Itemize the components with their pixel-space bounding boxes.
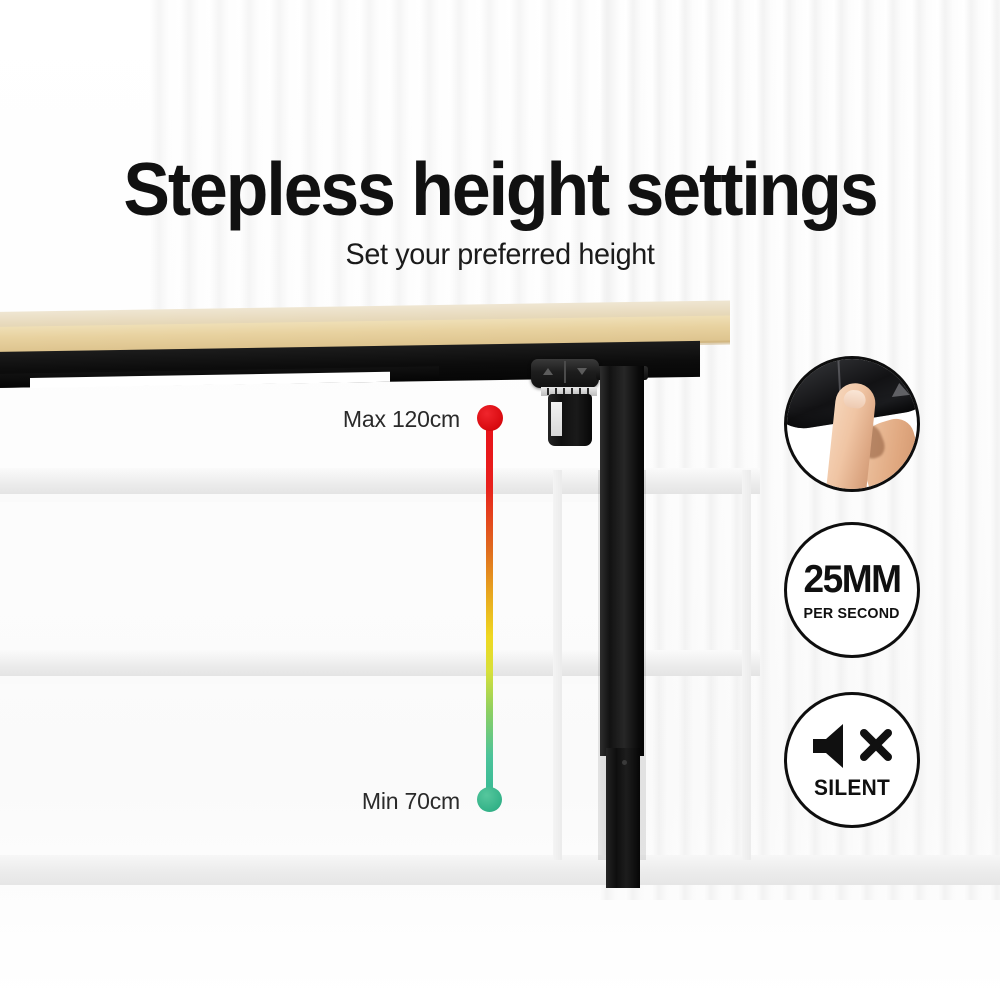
background-shelf-upper-lip <box>0 494 610 502</box>
leg-column-upper <box>600 366 644 756</box>
max-height-label: Max 120cm <box>200 406 460 433</box>
background-shelf-upright-right <box>742 470 751 860</box>
fingernail <box>843 389 867 409</box>
max-height-marker-dot <box>477 405 503 431</box>
leg-screw <box>622 760 627 765</box>
arrow-up-icon <box>543 368 553 375</box>
background-floor-band <box>0 855 1000 885</box>
paddle-divider <box>564 361 566 383</box>
muted-speaker-icon <box>809 721 895 771</box>
motor-spec-label <box>551 402 562 436</box>
arrow-down-icon <box>577 368 587 375</box>
background-shelf-middle-lip <box>0 676 610 684</box>
page-title: Stepless height settings <box>35 152 965 227</box>
badge-one-touch-control <box>784 356 920 492</box>
min-height-marker-dot <box>477 787 502 812</box>
background-shelf-middle <box>0 650 760 676</box>
page-subtitle: Set your preferred height <box>20 238 980 272</box>
silent-label: SILENT <box>814 777 890 799</box>
paddle-arrow-icon <box>890 382 909 397</box>
leg-column-lower <box>606 748 640 888</box>
lift-speed-value: 25MM <box>804 560 901 599</box>
product-feature-image: Stepless height settings Set your prefer… <box>0 0 1000 1000</box>
min-height-label: Min 70cm <box>200 788 460 815</box>
height-range-gradient-bar <box>486 418 493 802</box>
background-shelf-upper <box>0 468 760 494</box>
badge-lift-speed: 25MM PER SECOND <box>784 522 920 658</box>
control-paddle[interactable] <box>531 359 599 388</box>
lift-speed-unit: PER SECOND <box>804 606 900 621</box>
background-shelf-upright-left <box>553 470 562 860</box>
badge-silent-operation: SILENT <box>784 692 920 828</box>
